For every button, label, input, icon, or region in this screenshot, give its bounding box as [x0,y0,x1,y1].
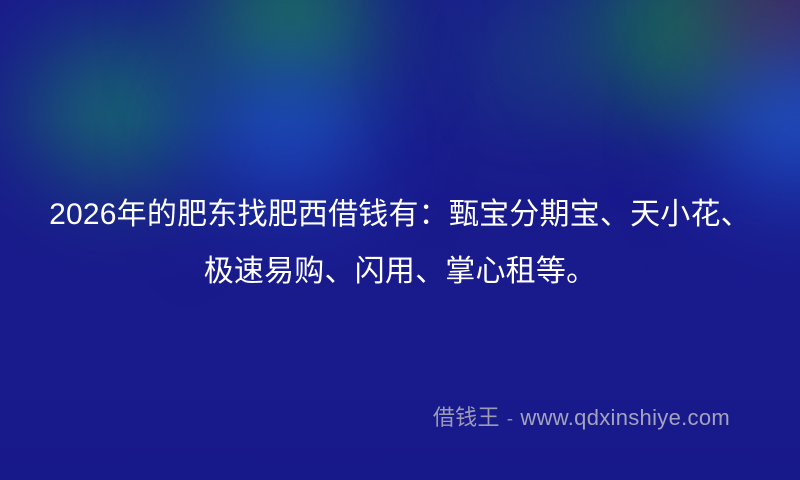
decor-blob-purple-right [690,0,800,95]
poster-canvas: 2026年的肥东找肥西借钱有：甄宝分期宝、天小花、极速易购、闪用、掌心租等。 借… [0,0,800,480]
decor-blob-teal-soft [420,0,650,140]
headline-text: 2026年的肥东找肥西借钱有：甄宝分期宝、天小花、极速易购、闪用、掌心租等。 [40,186,760,300]
decor-blob-green-right [575,0,800,115]
watermark-separator: - [507,406,514,434]
watermark: 借钱王 - www.qdxinshiye.com [433,404,730,434]
decor-blob-green-top [185,0,395,105]
watermark-brand: 借钱王 [433,404,500,432]
watermark-url: www.qdxinshiye.com [520,404,730,432]
